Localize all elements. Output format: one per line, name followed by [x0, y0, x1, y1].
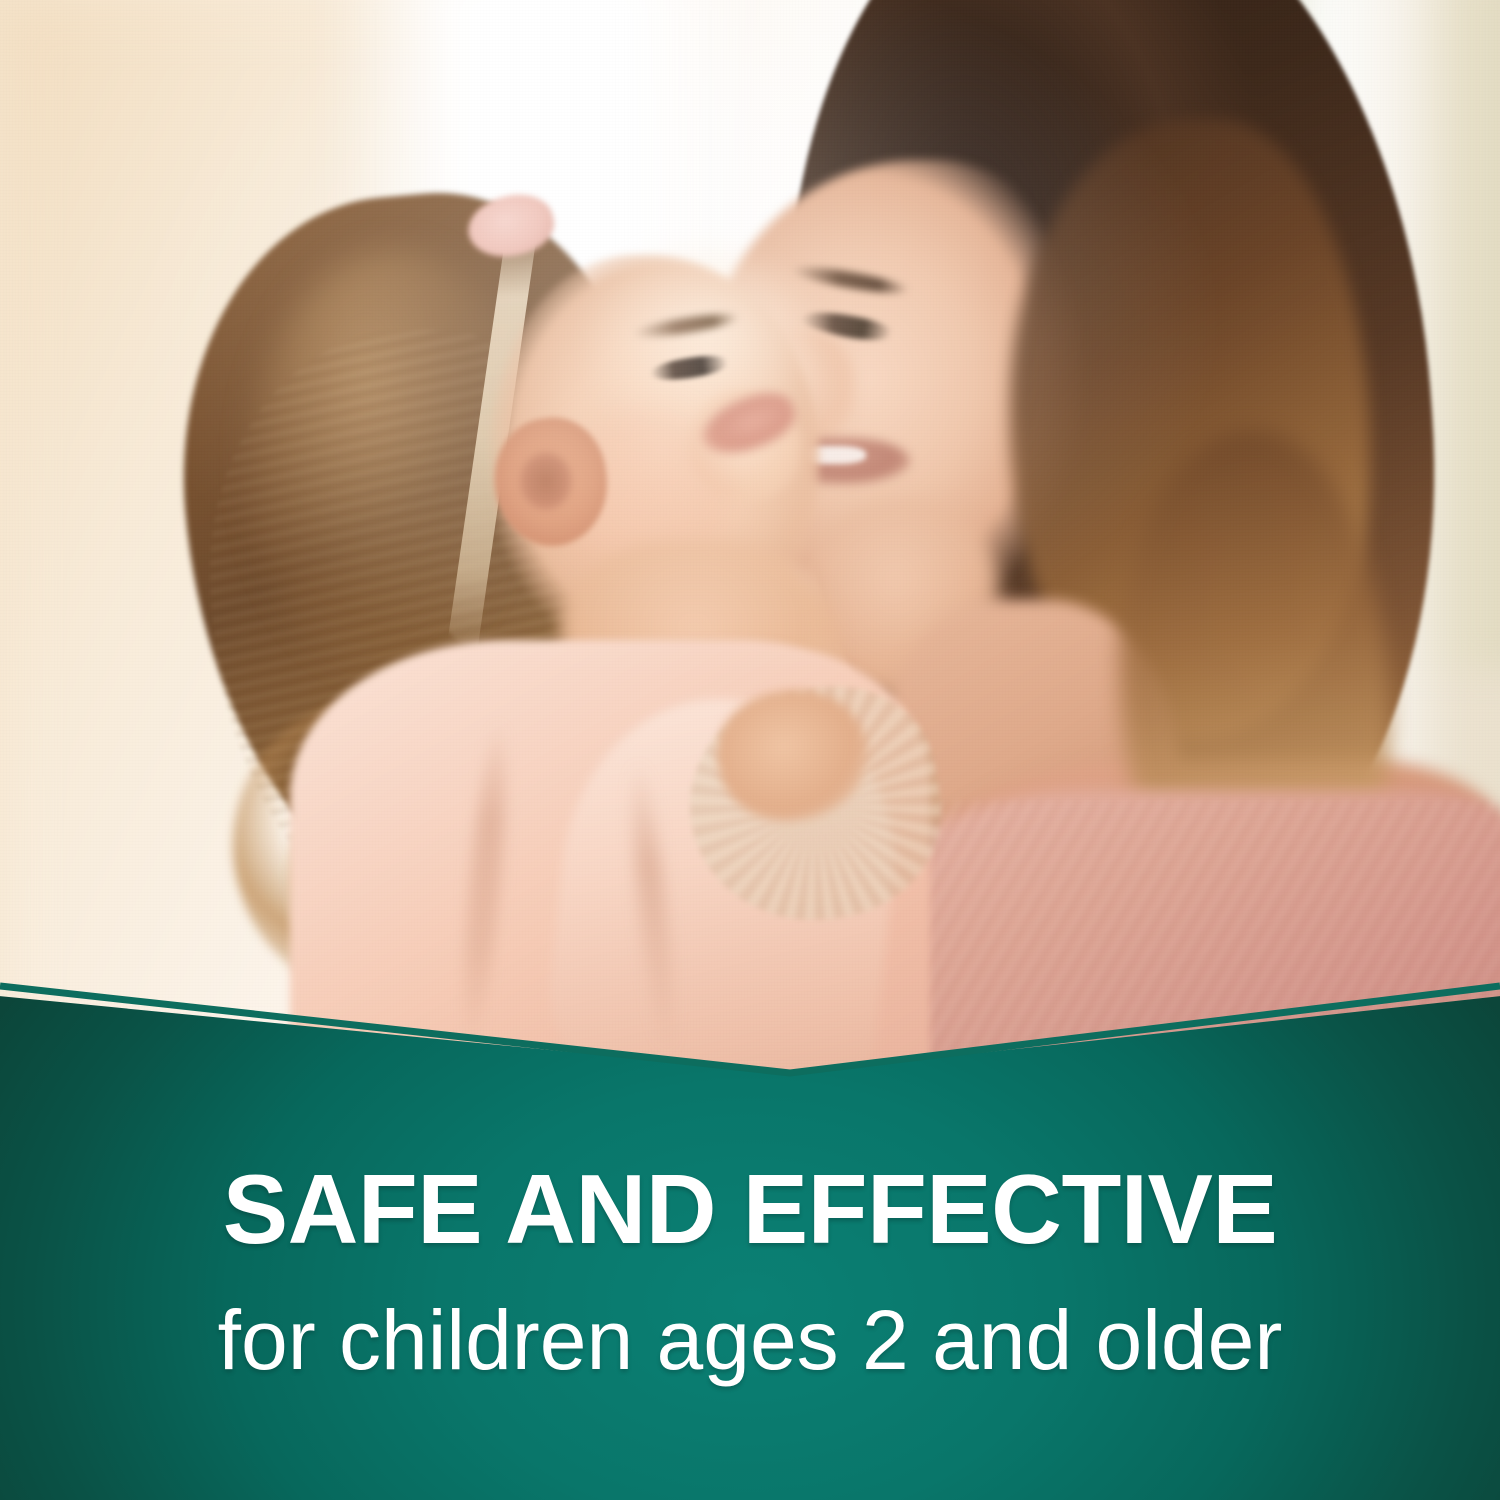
subline-age-guidance: for children ages 2 and older — [0, 1298, 1500, 1382]
green-chevron-banner: SAFE AND EFFECTIVE for children ages 2 a… — [0, 980, 1500, 1500]
child-ear-inner — [520, 452, 572, 510]
banner-text-block: SAFE AND EFFECTIVE for children ages 2 a… — [0, 1160, 1500, 1382]
lifestyle-photo — [0, 0, 1500, 1070]
headline-safe-and-effective: SAFE AND EFFECTIVE — [0, 1160, 1500, 1258]
marketing-banner-canvas: SAFE AND EFFECTIVE for children ages 2 a… — [0, 0, 1500, 1500]
